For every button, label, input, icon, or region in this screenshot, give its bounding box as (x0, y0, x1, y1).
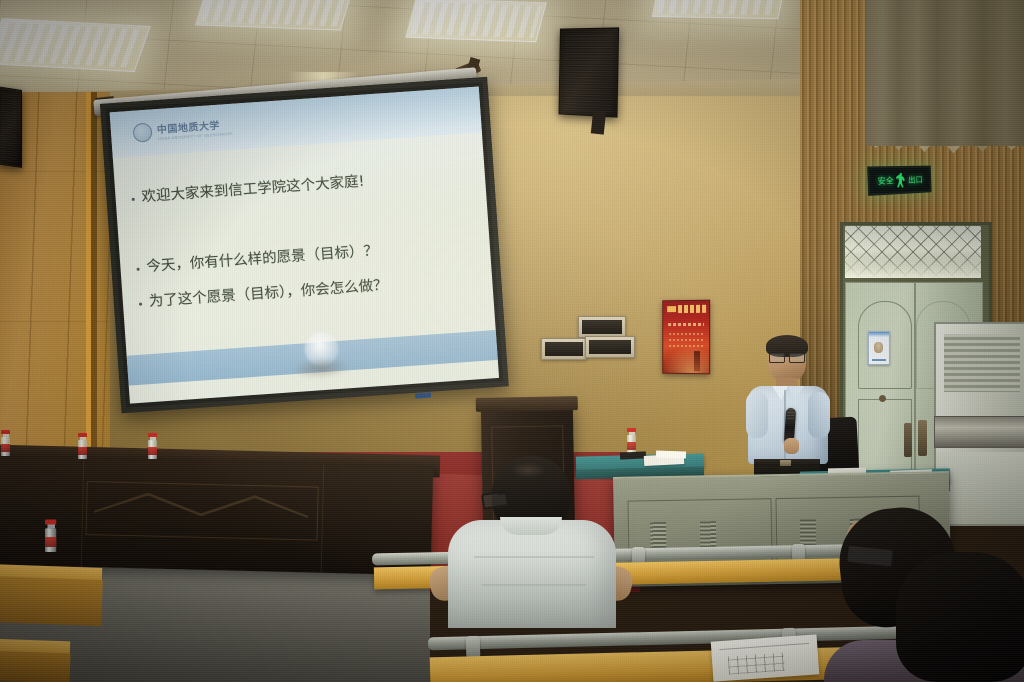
bottle-label (78, 447, 87, 455)
exit-sign-label-right: 出口 (908, 174, 923, 185)
ceiling-light-panel (405, 0, 546, 42)
slide-logo: 中国地质大学 CHINA UNIVERSITY OF GEOSCIENCES (132, 116, 233, 143)
bottle-body (1, 437, 10, 456)
poster-subtitle-text (668, 323, 704, 326)
speaker-grille (1, 92, 17, 163)
slide-bullet-text: 欢迎大家来到信工学院这个大家庭! (141, 173, 365, 208)
water-bottle (627, 428, 636, 454)
slide-footer-band (127, 330, 498, 386)
bottle-body (45, 528, 56, 552)
speaker-grille (563, 33, 614, 113)
running-person-icon (895, 172, 906, 187)
electrical-panel-box (541, 338, 587, 360)
electrical-panel-box (578, 316, 626, 338)
device-on-lectern (620, 451, 646, 459)
student-hair-highlight (510, 462, 546, 478)
podium-top (476, 396, 578, 412)
cabinet-metal-rail (934, 416, 1024, 448)
door-handle[interactable] (904, 423, 912, 457)
polo-collar (500, 517, 562, 535)
wall-speaker-main (558, 27, 619, 117)
audience-bench-body (0, 651, 70, 682)
panel-face (589, 340, 631, 354)
panel-face (582, 320, 622, 334)
shirt-sleeve (808, 392, 830, 438)
emergency-exit-sign: 安全 出口 (867, 166, 932, 196)
audience-bench-body (0, 576, 103, 626)
wall-edge-shadow (91, 92, 97, 472)
slide-bullet-2: 今天，你有什么样的愿景（目标）？ (136, 235, 475, 278)
projector-screen: 中国地质大学 CHINA UNIVERSITY OF GEOSCIENCES 欢… (100, 77, 509, 413)
rail-clip (466, 636, 481, 658)
slide-bullet-text: 为了这个愿景（目标），你会怎么做？ (148, 277, 388, 313)
presenter-shirt (748, 386, 828, 464)
projected-slide: 中国地质大学 CHINA UNIVERSITY OF GEOSCIENCES 欢… (110, 87, 499, 404)
slide-footer-graphic-shadow (290, 356, 351, 380)
slide-body: 欢迎大家来到信工学院这个大家庭! 今天，你有什么样的愿景（目标）？ 为了这个愿景… (113, 138, 493, 314)
red-propaganda-poster (662, 300, 710, 375)
electrical-panel-box (585, 336, 635, 358)
university-emblem-icon (132, 122, 152, 142)
ceiling-light-panel (195, 0, 352, 31)
poster-silhouette (694, 351, 700, 371)
bullet-dot-icon (132, 198, 135, 201)
handout-handwriting (728, 653, 785, 675)
presenter-hand (784, 438, 799, 454)
water-bottle (1, 430, 10, 456)
bullet-dot-icon (136, 267, 139, 270)
table-seam (321, 465, 325, 573)
door-notice-sign (868, 331, 890, 365)
bottle-label (1, 444, 10, 452)
bottle-label (148, 447, 157, 455)
panel-face (545, 342, 583, 356)
mic-grille (786, 409, 795, 422)
notice-portrait-icon (874, 342, 883, 353)
poster-glow (663, 345, 709, 373)
stage-head-table (0, 457, 433, 576)
glasses-lens (789, 353, 805, 363)
transom-backlight (845, 256, 981, 278)
bottle-label (45, 537, 56, 547)
water-bottle (78, 433, 87, 459)
bottle-label (627, 442, 636, 450)
curtain-shading (866, 0, 1024, 146)
door-peephole (879, 395, 886, 402)
speaker-mount-bracket (591, 109, 606, 134)
shirt-sleeve (746, 392, 768, 438)
water-bottle (148, 433, 157, 459)
notice-label-bar (872, 359, 886, 361)
slide-bullet-1: 欢迎大家来到信工学院这个大家庭! (131, 165, 470, 208)
papers-on-lectern (656, 450, 686, 458)
cabinet-louvers (944, 334, 1020, 392)
water-bottle (45, 520, 56, 553)
slide-bullet-3: 为了这个愿景（目标），你会怎么做？ (138, 270, 477, 313)
door-transom-window (845, 226, 981, 278)
student-polo-shirt (448, 520, 616, 628)
door-handle[interactable] (918, 420, 927, 456)
poster-body-text (669, 333, 703, 335)
ceiling-light-panel (0, 18, 151, 72)
table-carved-frame (85, 481, 318, 541)
table-seam (81, 459, 85, 567)
poster-body-text (669, 339, 703, 341)
shirt-fold (474, 556, 594, 558)
bullet-dot-icon (139, 303, 142, 306)
audience-head-near (896, 552, 1024, 682)
bottle-body (148, 440, 157, 459)
presenter-glasses (768, 353, 806, 361)
bottle-body (78, 440, 87, 459)
exit-sign-label-left: 安全 (877, 175, 894, 187)
poster-flag-icon (667, 306, 676, 312)
presenter (742, 338, 834, 486)
wall-speaker-left (0, 86, 22, 168)
shirt-collar (788, 386, 804, 400)
shirt-fold (482, 584, 586, 586)
handwritten-handout (711, 634, 820, 681)
lecture-hall-photo: 安全 出口 (0, 0, 1024, 682)
glasses-lens (769, 353, 785, 363)
ceiling-light-panel (652, 0, 786, 19)
slide-bullet-text: 今天，你有什么样的愿景（目标）？ (146, 242, 379, 278)
poster-title-text (678, 305, 706, 313)
handout-line (719, 643, 809, 650)
